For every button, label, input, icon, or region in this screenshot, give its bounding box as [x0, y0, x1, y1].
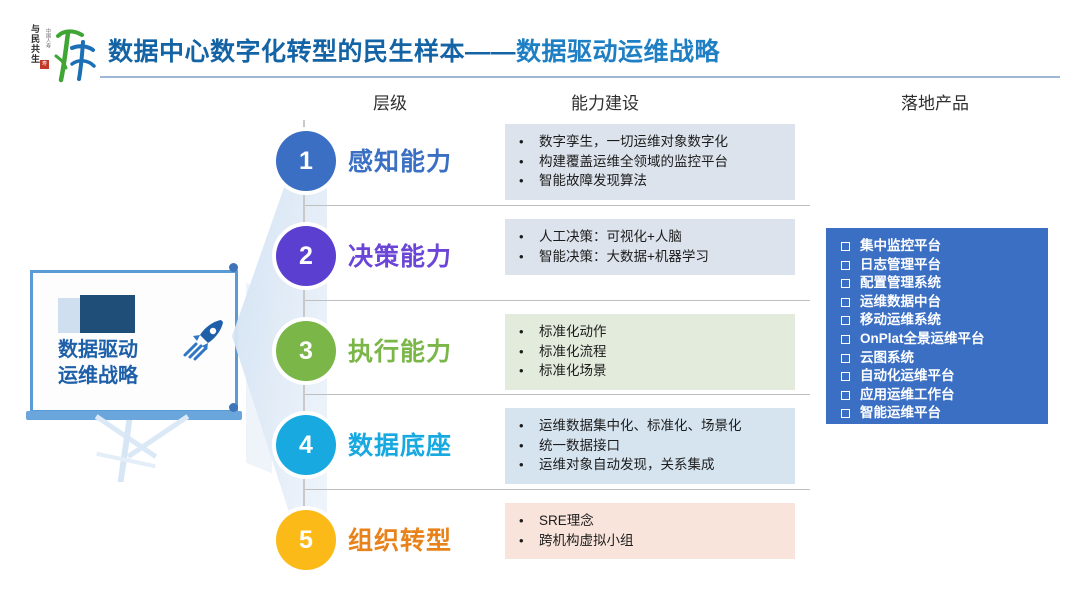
bullet-item: 运维数据集中化、标准化、场景化	[515, 416, 785, 436]
product-panel: 集中监控平台日志管理平台配置管理系统运维数据中台移动运维系统OnPlat全景运维…	[826, 228, 1048, 424]
bullet-item: 标准化动作	[515, 322, 785, 342]
whiteboard-bar-light	[58, 298, 80, 333]
row-number-badge-2: 2	[276, 226, 336, 286]
logo-seal: 寿	[40, 60, 49, 69]
bullet-item: 标准化场景	[515, 361, 785, 381]
row-bullets-3: 标准化动作标准化流程标准化场景	[505, 314, 795, 390]
slide-canvas: 与民共生 中国人寿 寿 数据中心数字化转型的民生样本——数据驱动运维战略 层级 …	[0, 0, 1080, 608]
bullet-list: 数字孪生，一切运维对象数字化构建覆盖运维全领域的监控平台智能故障发现算法	[515, 132, 785, 191]
bullet-item: 智能决策：大数据+机器学习	[515, 247, 785, 267]
bullet-item: 智能故障发现算法	[515, 171, 785, 191]
bullet-item: SRE理念	[515, 511, 785, 531]
page-title-part1: 数据中心数字化转型的民生样本——	[108, 38, 516, 66]
row-number-badge-1: 1	[276, 131, 336, 191]
row-label-5: 组织转型	[348, 521, 498, 557]
product-item: 移动运维系统	[838, 311, 1036, 330]
whiteboard-leg-right	[127, 414, 189, 458]
bullet-list: 运维数据集中化、标准化、场景化统一数据接口运维对象自动发现，关系集成	[515, 416, 785, 475]
row-label-1: 感知能力	[348, 142, 498, 178]
row-number-badge-3: 3	[276, 321, 336, 381]
whiteboard-tray	[26, 411, 242, 420]
page-title-part2: 数据驱动运维战略	[516, 38, 720, 66]
row-number-badge-4: 4	[276, 415, 336, 475]
bullet-list: 人工决策：可视化+人脑智能决策：大数据+机器学习	[515, 227, 785, 266]
column-header-product: 落地产品	[845, 89, 1025, 114]
whiteboard-line2: 运维战略	[58, 363, 208, 389]
product-item: 应用运维工作台	[838, 386, 1036, 405]
bullet-item: 跨机构虚拟小组	[515, 531, 785, 551]
capability-row-3: 3执行能力标准化动作标准化流程标准化场景	[270, 318, 810, 386]
company-logo: 与民共生 中国人寿 寿	[18, 20, 100, 86]
row-bullets-5: SRE理念跨机构虚拟小组	[505, 503, 795, 559]
product-item: 云图系统	[838, 349, 1036, 368]
capability-row-4: 4数据底座运维数据集中化、标准化、场景化统一数据接口运维对象自动发现，关系集成	[270, 412, 810, 480]
row-bullets-2: 人工决策：可视化+人脑智能决策：大数据+机器学习	[505, 219, 795, 275]
product-item: 运维数据中台	[838, 293, 1036, 312]
whiteboard-illustration: 数据驱动 运维战略	[18, 258, 250, 488]
whiteboard-bar-dark	[80, 295, 135, 333]
chevron-node-top	[229, 263, 238, 272]
row-bullets-1: 数字孪生，一切运维对象数字化构建覆盖运维全领域的监控平台智能故障发现算法	[505, 124, 795, 200]
bullet-list: 标准化动作标准化流程标准化场景	[515, 322, 785, 381]
product-item: 自动化运维平台	[838, 367, 1036, 386]
column-header-capability: 能力建设	[525, 89, 685, 114]
row-bullets-4: 运维数据集中化、标准化、场景化统一数据接口运维对象自动发现，关系集成	[505, 408, 795, 484]
row-divider-4	[305, 489, 810, 490]
bullet-item: 统一数据接口	[515, 436, 785, 456]
title-divider	[100, 76, 1060, 78]
capability-row-1: 1感知能力数字孪生，一切运维对象数字化构建覆盖运维全领域的监控平台智能故障发现算…	[270, 128, 810, 196]
footer-bar	[0, 600, 1080, 608]
product-item: 配置管理系统	[838, 274, 1036, 293]
chevron-node-bottom	[229, 403, 238, 412]
capability-row-2: 2决策能力人工决策：可视化+人脑智能决策：大数据+机器学习	[270, 223, 810, 291]
row-divider-3	[305, 394, 810, 395]
page-title: 数据中心数字化转型的民生样本——数据驱动运维战略	[108, 32, 720, 68]
bullet-item: 运维对象自动发现，关系集成	[515, 455, 785, 475]
logo-vertical-text: 与民共生	[24, 24, 40, 64]
bullet-item: 数字孪生，一切运维对象数字化	[515, 132, 785, 152]
row-divider-1	[305, 205, 810, 206]
column-header-level: 层级	[330, 89, 450, 114]
product-item: 智能运维平台	[838, 404, 1036, 423]
row-label-3: 执行能力	[348, 332, 498, 368]
rocket-icon	[181, 315, 229, 366]
product-item: 日志管理平台	[838, 256, 1036, 275]
row-label-4: 数据底座	[348, 426, 498, 462]
bullet-item: 标准化流程	[515, 342, 785, 362]
logo-tiny-text: 中国人寿	[41, 28, 51, 48]
bullet-item: 构建覆盖运维全领域的监控平台	[515, 152, 785, 172]
calligraphy-mark-icon	[52, 26, 96, 89]
row-number-badge-5: 5	[276, 510, 336, 570]
bullet-list: SRE理念跨机构虚拟小组	[515, 511, 785, 550]
product-item: 集中监控平台	[838, 237, 1036, 256]
bullet-item: 人工决策：可视化+人脑	[515, 227, 785, 247]
whiteboard-panel: 数据驱动 运维战略	[30, 270, 238, 413]
row-divider-2	[305, 300, 810, 301]
row-label-2: 决策能力	[348, 237, 498, 273]
product-list: 集中监控平台日志管理平台配置管理系统运维数据中台移动运维系统OnPlat全景运维…	[838, 237, 1036, 423]
product-item: OnPlat全景运维平台	[838, 330, 1036, 349]
capability-row-5: 5组织转型SRE理念跨机构虚拟小组	[270, 507, 810, 575]
